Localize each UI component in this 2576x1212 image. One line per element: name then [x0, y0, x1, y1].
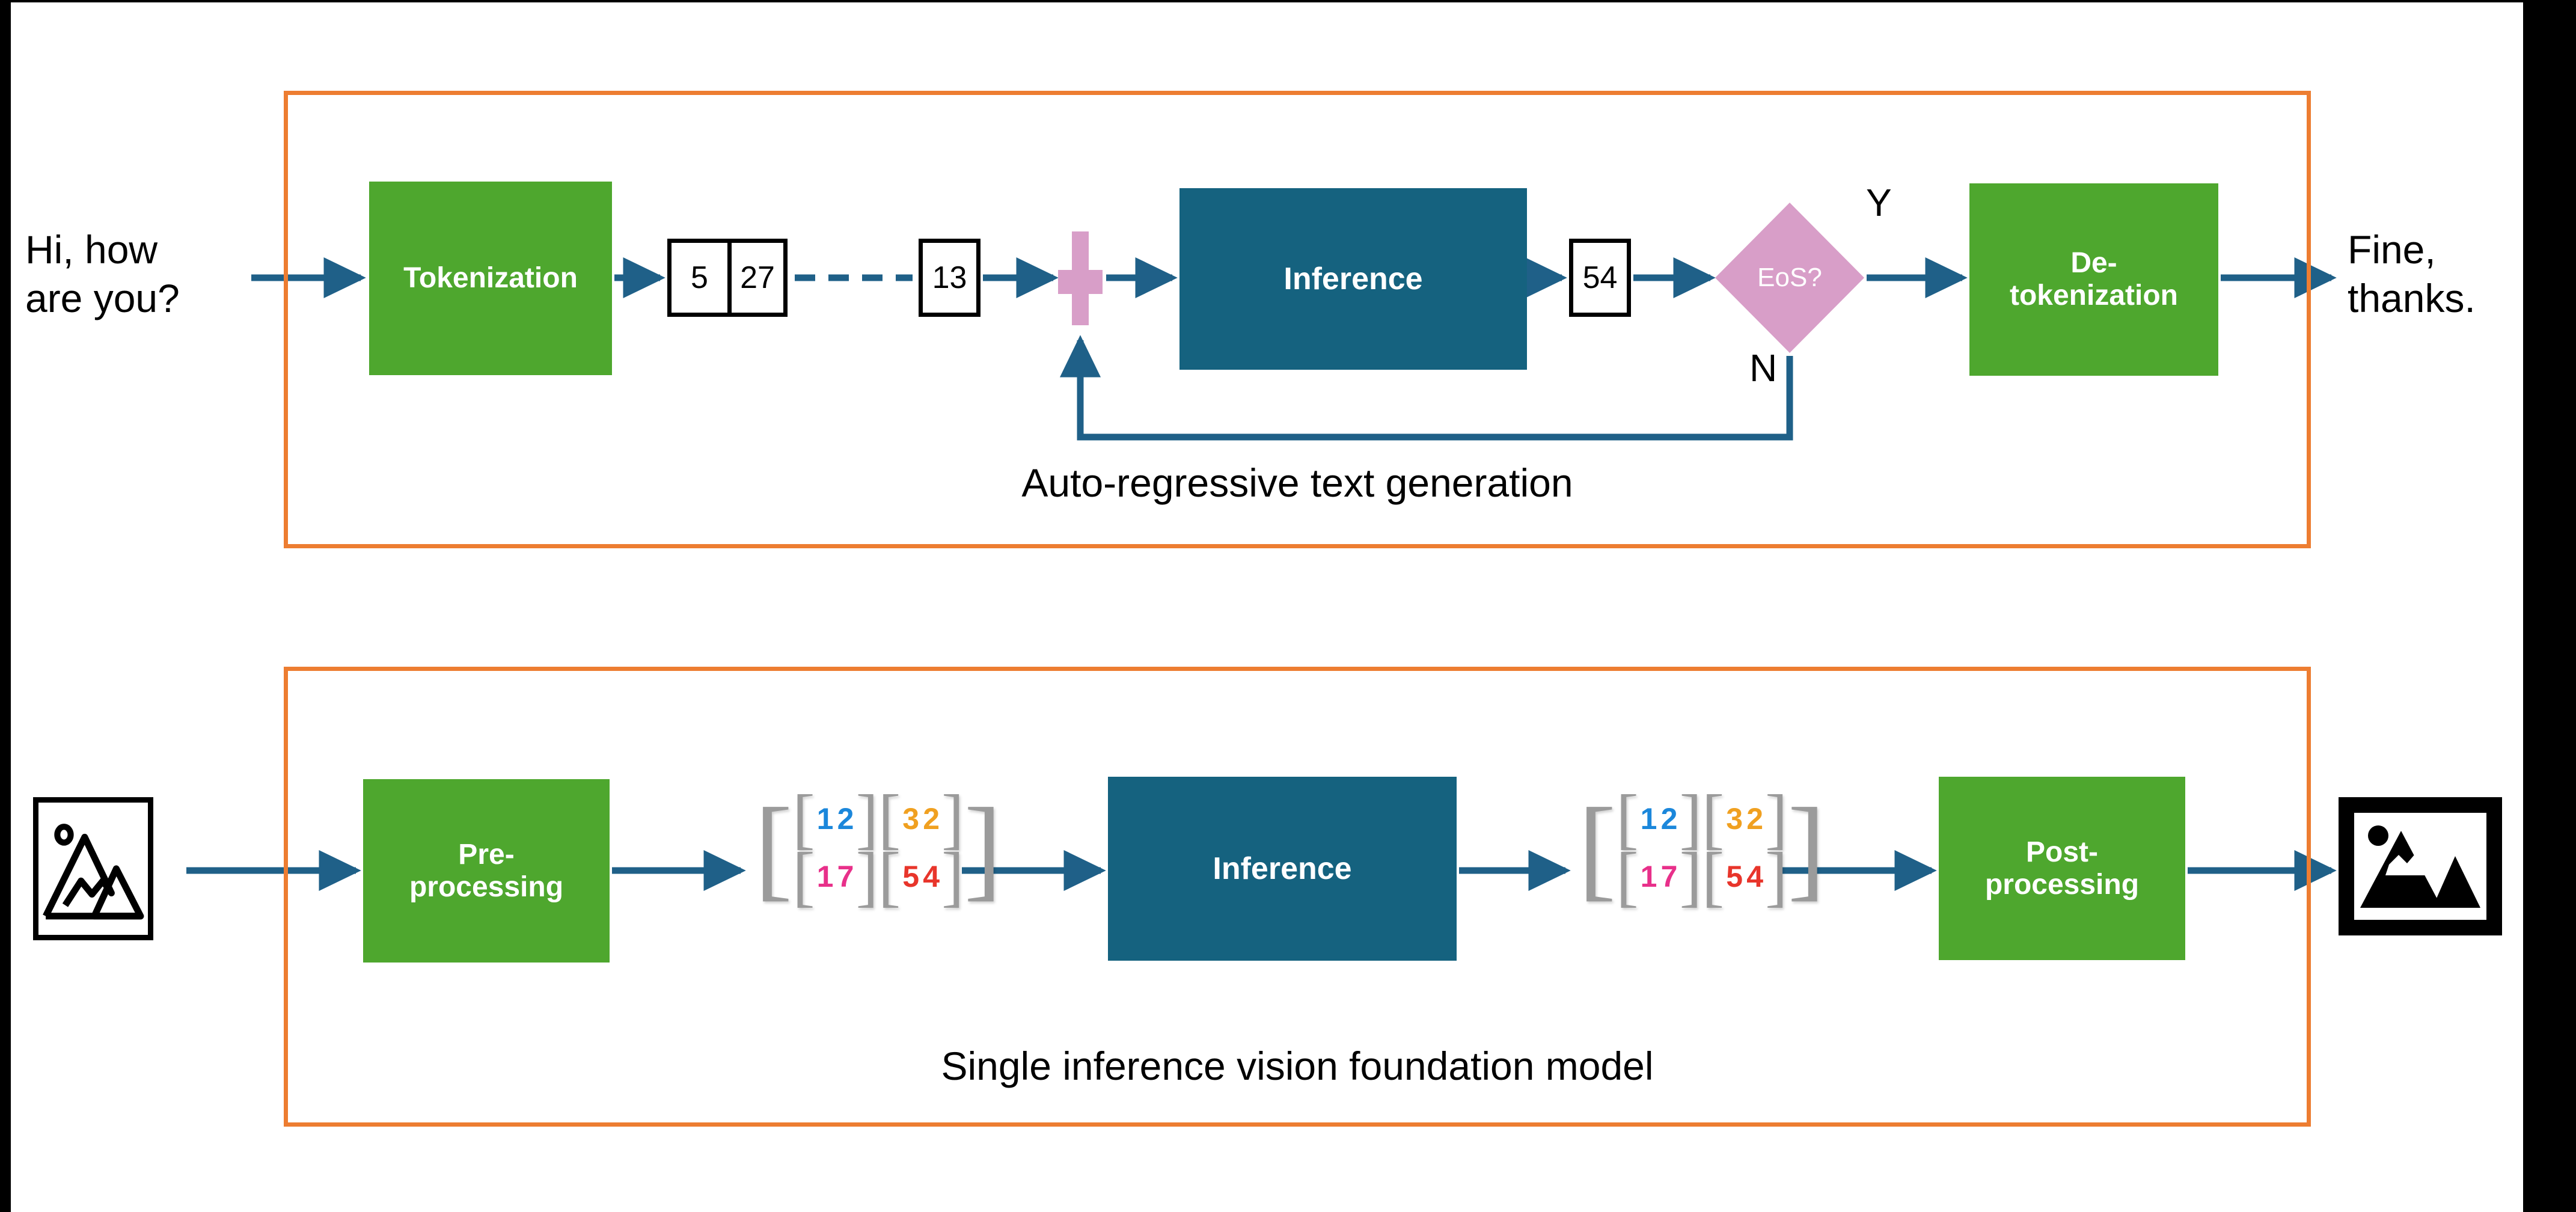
caption-text-generation: Auto-regressive text generation [284, 463, 2311, 503]
tensor-inner-row: [ 1 2 ] [1616, 792, 1702, 846]
bracket-inner-open: [ [1702, 850, 1724, 904]
tensor-value: 1 [815, 858, 836, 895]
token-output-group: 54 [1569, 239, 1631, 317]
token-cell: 5 [672, 243, 727, 313]
diagram-canvas: Auto-regressive text generation Hi, how … [0, 0, 2576, 1212]
tensor-value: 2 [921, 801, 941, 837]
tensor-value: 2 [836, 801, 856, 837]
detokenization-label: De-tokenization [2010, 247, 2178, 312]
tensor-block-a: [ 1 2 ] [ 1 7 ] [792, 792, 878, 904]
eos-decision-diamond[interactable]: EoS? [1715, 203, 1864, 353]
output-response-text: Fine, thanks. [2348, 225, 2476, 322]
tensor-value: 2 [1659, 801, 1680, 837]
tensor-inner-row: [ 3 2 ] [878, 792, 964, 846]
plus-icon-horizontal [1058, 270, 1103, 294]
token-cell: 13 [923, 243, 976, 313]
token-cell: 54 [1573, 243, 1627, 313]
preprocessing-label: Pre-processing [409, 839, 563, 904]
tensor-value: 3 [1724, 801, 1745, 837]
tensor-output: [ [ 1 2 ] [ 1 7 ] [ 3 [1578, 792, 1826, 904]
tensor-value: 1 [815, 801, 836, 837]
input-prompt-text: Hi, how are you? [25, 225, 180, 322]
image-filled-icon [2339, 797, 2502, 935]
tensor-value: 5 [1724, 858, 1745, 895]
bracket-outer-open: [ [1578, 804, 1616, 893]
input-prompt-line-1: Hi, how [25, 225, 180, 274]
caption-vision-model: Single inference vision foundation model [284, 1046, 2311, 1086]
token-last-group: 13 [919, 239, 981, 317]
bracket-inner-open: [ [792, 850, 815, 904]
bracket-outer-close: ] [1787, 804, 1825, 893]
postprocessing-box[interactable]: Post-processing [1939, 777, 2185, 960]
bracket-inner-open: [ [792, 792, 815, 846]
branch-label-yes: Y [1866, 183, 1892, 222]
left-black-bar [0, 0, 11, 1212]
bracket-inner-close: ] [856, 850, 878, 904]
bracket-inner-close: ] [1680, 850, 1702, 904]
tensor-blocks: [ 1 2 ] [ 1 7 ] [ 3 2 ] [1616, 792, 1787, 904]
preprocessing-box[interactable]: Pre-processing [363, 779, 610, 963]
tensor-block-a: [ 1 2 ] [ 1 7 ] [1616, 792, 1702, 904]
inference-box-vision[interactable]: Inference [1108, 777, 1457, 961]
tensor-inner-row: [ 1 7 ] [792, 850, 878, 904]
tensor-value: 3 [901, 801, 921, 837]
tensor-value: 1 [1639, 801, 1659, 837]
tensor-block-b: [ 3 2 ] [ 5 4 ] [1702, 792, 1788, 904]
bracket-inner-close: ] [1765, 792, 1787, 846]
bracket-inner-close: ] [941, 792, 964, 846]
tensor-inner-row: [ 5 4 ] [1702, 850, 1788, 904]
postprocessing-label: Post-processing [1985, 836, 2139, 901]
tensor-inner-row: [ 1 2 ] [792, 792, 878, 846]
tensor-value: 4 [1745, 858, 1765, 895]
branch-label-no: N [1749, 349, 1777, 387]
image-outline-icon [33, 797, 153, 940]
bracket-inner-close: ] [941, 850, 964, 904]
bracket-outer-open: [ [754, 804, 792, 893]
bracket-inner-close: ] [856, 792, 878, 846]
bracket-inner-close: ] [1680, 792, 1702, 846]
bracket-inner-open: [ [1616, 850, 1638, 904]
tensor-inner-row: [ 1 7 ] [1616, 850, 1702, 904]
bracket-inner-open: [ [1616, 792, 1638, 846]
bracket-inner-open: [ [878, 850, 901, 904]
tensor-value: 7 [1659, 858, 1680, 895]
output-response-line-1: Fine, [2348, 225, 2476, 274]
tensor-blocks: [ 1 2 ] [ 1 7 ] [ 3 2 ] [792, 792, 964, 904]
tensor-inner-row: [ 3 2 ] [1702, 792, 1788, 846]
tensor-value: 1 [1639, 858, 1659, 895]
eos-decision-label: EoS? [1715, 203, 1864, 353]
input-prompt-line-2: are you? [25, 274, 180, 323]
top-black-edge [11, 0, 2523, 2]
tensor-block-b: [ 3 2 ] [ 5 4 ] [878, 792, 964, 904]
output-response-line-2: thanks. [2348, 274, 2476, 323]
bracket-inner-open: [ [1702, 792, 1724, 846]
plus-icon [1058, 231, 1103, 325]
tokenization-box[interactable]: Tokenization [369, 182, 612, 375]
tensor-value: 7 [836, 858, 856, 895]
token-ellipsis-dashes [795, 270, 913, 286]
tensor-inner-row: [ 5 4 ] [878, 850, 964, 904]
tensor-value: 5 [901, 858, 921, 895]
tensor-value: 2 [1745, 801, 1765, 837]
bracket-outer-close: ] [964, 804, 1002, 893]
bracket-inner-open: [ [878, 792, 901, 846]
token-cell: 27 [727, 243, 783, 313]
bracket-inner-close: ] [1765, 850, 1787, 904]
inference-box-text[interactable]: Inference [1179, 188, 1527, 370]
tensor-value: 4 [921, 858, 941, 895]
detokenization-box[interactable]: De-tokenization [1969, 183, 2218, 376]
token-pair-group: 5 27 [667, 239, 788, 317]
right-black-bar [2523, 0, 2576, 1212]
tensor-input: [ [ 1 2 ] [ 1 7 ] [ 3 [754, 792, 1002, 904]
